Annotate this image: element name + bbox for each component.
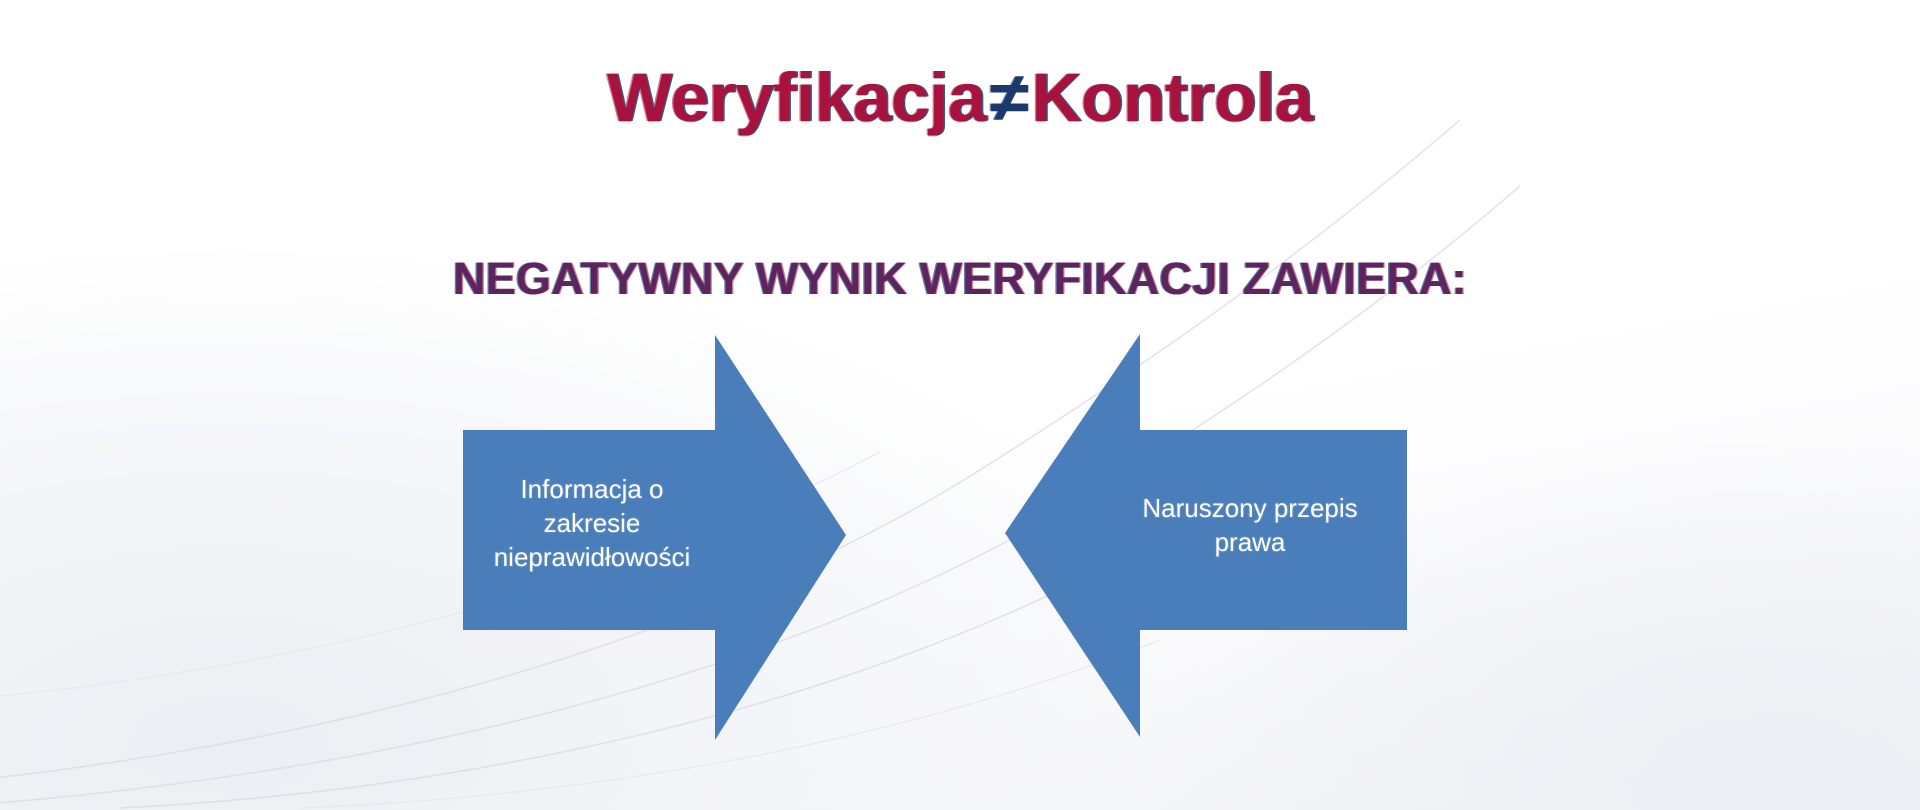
arrow-diagram: Informacja o zakresie nieprawidłowości N…	[0, 0, 1920, 810]
slide-canvas: Weryfikacja≠Kontrola NEGATYWNY WYNIK WER…	[0, 0, 1920, 810]
arrow-left-pointing-label: Naruszony przepis prawa	[1100, 492, 1400, 560]
arrow-right-pointing-label: Informacja o zakresie nieprawidłowości	[463, 473, 721, 574]
